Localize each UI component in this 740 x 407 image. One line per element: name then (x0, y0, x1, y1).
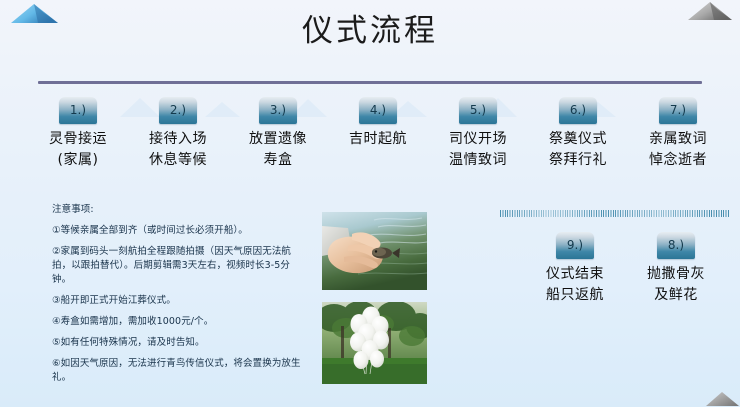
step-9-chip: 9.) (556, 232, 594, 259)
step-2-number: 2.) (159, 103, 197, 117)
title-divider (38, 81, 702, 84)
step-2-label-line2: 休息等候 (130, 150, 226, 171)
step-2-chip: 2.) (159, 97, 197, 124)
page-title: 仪式流程 (0, 10, 740, 52)
step-6[interactable]: 6.) 祭奠仪式 祭拜行礼 (530, 97, 626, 171)
note-item: ③船开即正式开始江葬仪式。 (52, 294, 302, 308)
step-6-label-line2: 祭拜行礼 (530, 150, 626, 171)
mountain-icon (706, 391, 740, 407)
step-1-label-line1: 灵骨接运 (30, 129, 126, 150)
step-8-chip: 8.) (657, 232, 695, 259)
note-item: ④寿盒如需增加，需加收1000元/个。 (52, 315, 302, 329)
step-7-label-line2: 悼念逝者 (630, 150, 726, 171)
step-3-chip: 3.) (259, 97, 297, 124)
step-1-label-line2: (家属) (30, 150, 126, 171)
note-item: ①等候亲属全部到齐（或时间过长必须开船）。 (52, 224, 302, 238)
step-2-label-line1: 接待入场 (130, 129, 226, 150)
step-7-chip: 7.) (659, 97, 697, 124)
step-8-label-line1: 抛撒骨灰 (628, 264, 724, 285)
step-3-label-line1: 放置遗像 (230, 129, 326, 150)
note-item: ②家属到码头一刻航拍全程跟随拍摄（因天气原因无法航拍，以跟拍替代）。后期剪辑需3… (52, 245, 302, 287)
step-9-label-line2: 船只返航 (527, 285, 623, 306)
step-9-number: 9.) (556, 238, 594, 252)
step-1-number: 1.) (59, 103, 97, 117)
step-9[interactable]: 9.) 仪式结束 船只返航 (527, 232, 623, 306)
fish-release-photo (322, 212, 427, 290)
step-9-label-line1: 仪式结束 (527, 264, 623, 285)
white-balloons-photo (322, 302, 427, 384)
step-5-number: 5.) (459, 103, 497, 117)
step-5-chip: 5.) (459, 97, 497, 124)
step-3[interactable]: 3.) 放置遗像 寿盒 (230, 97, 326, 171)
step-6-number: 6.) (559, 103, 597, 117)
step-3-number: 3.) (259, 103, 297, 117)
step-7-number: 7.) (659, 103, 697, 117)
step-6-label-line1: 祭奠仪式 (530, 129, 626, 150)
step-7[interactable]: 7.) 亲属致词 悼念逝者 (630, 97, 726, 171)
step-8-label-line2: 及鲜花 (628, 285, 724, 306)
step-6-chip: 6.) (559, 97, 597, 124)
step-5-label-line1: 司仪开场 (430, 129, 526, 150)
notes-block: 注意事项: ①等候亲属全部到齐（或时间过长必须开船）。 ②家属到码头一刻航拍全程… (52, 202, 302, 392)
step-8[interactable]: 8.) 抛撒骨灰 及鲜花 (628, 232, 724, 306)
step-5[interactable]: 5.) 司仪开场 温情致词 (430, 97, 526, 171)
step-7-label-line1: 亲属致词 (630, 129, 726, 150)
step-1[interactable]: 1.) 灵骨接运 (家属) (30, 97, 126, 171)
step-4-chip: 4.) (359, 97, 397, 124)
dashed-connector (500, 210, 730, 217)
slide-canvas: 仪式流程 1.) 灵骨接运 (家属) 2.) 接待入场 休息等候 3.) 放置遗… (0, 0, 740, 407)
note-item: ⑤如有任何特殊情况，请及时告知。 (52, 336, 302, 350)
step-4-label-line1: 吉时起航 (330, 129, 426, 150)
step-1-chip: 1.) (59, 97, 97, 124)
step-3-label-line2: 寿盒 (230, 150, 326, 171)
step-4-number: 4.) (359, 103, 397, 117)
step-8-number: 8.) (657, 238, 695, 252)
step-2[interactable]: 2.) 接待入场 休息等候 (130, 97, 226, 171)
step-5-label-line2: 温情致词 (430, 150, 526, 171)
note-item: ⑥如因天气原因，无法进行青鸟传信仪式，将会置换为放生礼。 (52, 357, 302, 385)
notes-heading: 注意事项: (52, 202, 302, 217)
step-4[interactable]: 4.) 吉时起航 (330, 97, 426, 150)
